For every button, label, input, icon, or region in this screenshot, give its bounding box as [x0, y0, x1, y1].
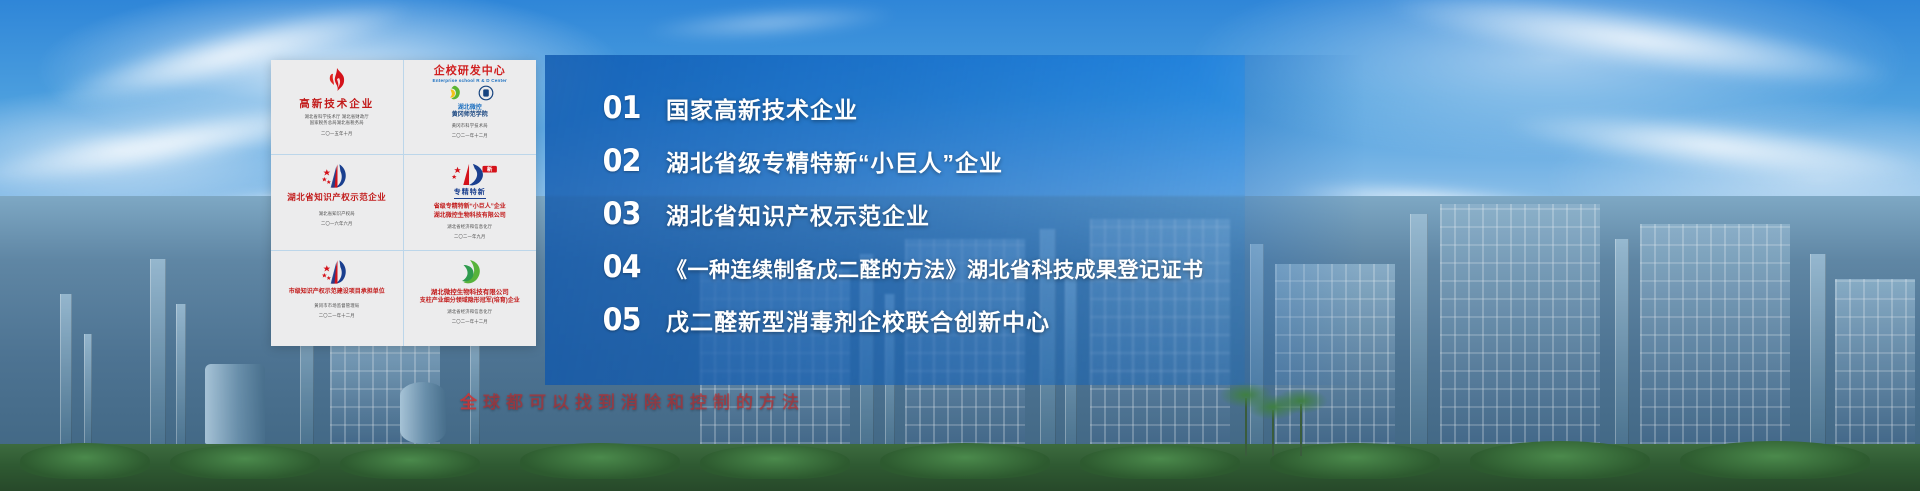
- star-sail-logo-icon: [320, 257, 354, 287]
- certificate-title: 湖北微控生物科技有限公司: [431, 289, 509, 296]
- certificate-title: 省级专精特新“小巨人”企业: [434, 204, 506, 211]
- honor-label: 湖北省知识产权示范企业: [666, 205, 930, 228]
- certificate-enterprise-school-rd-center[interactable]: 企校研发中心 Enterprise school R & D Center 湖北…: [404, 60, 537, 155]
- honor-item-03[interactable]: 03 湖北省知识产权示范企业: [600, 199, 1245, 230]
- honor-number: 03: [603, 199, 664, 230]
- certificate-high-tech-enterprise[interactable]: 高新技术企业 湖北省科学技术厅 湖北省财政厅 国家税务总局湖北省税务局 二〇一五…: [271, 60, 404, 155]
- certificate-title: 高新技术企业: [299, 98, 374, 110]
- zhuanjingtexin-logo-icon: 新: [441, 161, 499, 187]
- certificate-issuer: 湖北省知识产权局: [319, 211, 355, 217]
- honor-label: 国家高新技术企业: [666, 99, 858, 122]
- certificate-date: 二〇一六年六月: [321, 221, 352, 227]
- certificate-partner: 黄冈师范学院: [452, 112, 488, 119]
- honors-panel: 01 国家高新技术企业 02 湖北省级专精特新“小巨人”企业 03 湖北省知识产…: [545, 55, 1245, 385]
- certificate-subtitle: 支柱产业细分领域隐形冠军(培育)企业: [420, 298, 520, 305]
- certificate-issuer: 湖北省经济和信息化厅: [447, 224, 492, 230]
- honor-item-02[interactable]: 02 湖北省级专精特新“小巨人”企业: [600, 146, 1245, 177]
- honors-list: 01 国家高新技术企业 02 湖北省级专精特新“小巨人”企业 03 湖北省知识产…: [545, 55, 1245, 385]
- slogan-lead: 全: [460, 393, 483, 412]
- honor-label: 戊二醛新型消毒剂企校联合创新中心: [666, 311, 1050, 334]
- honor-item-04[interactable]: 04 《一种连续制备戊二醛的方法》湖北省科技成果登记证书: [600, 252, 1245, 283]
- certificate-collage: 高新技术企业 湖北省科学技术厅 湖北省财政厅 国家税务总局湖北省税务局 二〇一五…: [271, 60, 536, 346]
- certificate-title: 企校研发中心: [434, 66, 506, 77]
- honors-banner: 全球都可以找到消除和控制的方法 高新技术企业 湖北省科学技术厅 湖北省财政厅 国…: [0, 0, 1920, 491]
- certificate-date: 二〇二一年十二月: [319, 313, 355, 319]
- honor-number: 05: [603, 305, 664, 336]
- certificate-company: 湖北微控生物科技有限公司: [434, 213, 506, 220]
- certificate-badge: 专精特新: [454, 189, 486, 199]
- honor-number: 01: [603, 93, 664, 124]
- honor-number: 02: [603, 146, 664, 177]
- certificate-issuer: 黄冈市科学技术局: [452, 123, 488, 129]
- slogan-text: 球都可以找到消除和控制的方法: [483, 393, 805, 412]
- honor-item-01[interactable]: 01 国家高新技术企业: [600, 93, 1245, 124]
- certificate-issuer: 湖北省经济和信息化厅: [447, 309, 492, 315]
- background-slogan: 全球都可以找到消除和控制的方法: [460, 388, 1080, 413]
- green-leaf-logo-icon: [455, 257, 485, 287]
- certificate-date: 二〇二一年九月: [454, 234, 485, 240]
- star-sail-logo-icon: [320, 161, 354, 191]
- weikong-green-logo-icon: [446, 83, 494, 103]
- certificate-city-ip-demo-construction-unit[interactable]: 市级知识产权示范建设项目承担单位 黄冈市市场监督管理局 二〇二一年十二月: [271, 251, 404, 346]
- certificate-issuer: 黄冈市市场监督管理局: [314, 303, 359, 309]
- certificate-date: 二〇二一年十二月: [452, 133, 488, 139]
- certificate-date: 二〇一五年十月: [321, 131, 352, 137]
- certificate-specialized-new-little-giant[interactable]: 新 专精特新 省级专精特新“小巨人”企业 湖北微控生物科技有限公司 湖北省经济和…: [404, 155, 537, 250]
- flame-logo-icon: [322, 66, 352, 96]
- certificate-title: 湖北省知识产权示范企业: [287, 193, 386, 203]
- certificate-issuer: 湖北省科学技术厅 湖北省财政厅 国家税务总局湖北省税务局: [305, 114, 369, 126]
- certificate-hubei-ip-demonstration-enterprise[interactable]: 湖北省知识产权示范企业 湖北省知识产权局 二〇一六年六月: [271, 155, 404, 250]
- honor-label: 《一种连续制备戊二醛的方法》湖北省科技成果登记证书: [666, 260, 1204, 281]
- certificate-brand: 湖北微控: [458, 105, 482, 112]
- honor-item-05[interactable]: 05 戊二醛新型消毒剂企校联合创新中心: [600, 305, 1245, 336]
- honor-label: 湖北省级专精特新“小巨人”企业: [666, 152, 1003, 175]
- honor-number: 04: [603, 252, 664, 283]
- certificate-weikong-biotech-company[interactable]: 湖北微控生物科技有限公司 支柱产业细分领域隐形冠军(培育)企业 湖北省经济和信息…: [404, 251, 537, 346]
- certificate-date: 二〇二一年十二月: [452, 319, 488, 325]
- certificate-title: 市级知识产权示范建设项目承担单位: [289, 289, 385, 296]
